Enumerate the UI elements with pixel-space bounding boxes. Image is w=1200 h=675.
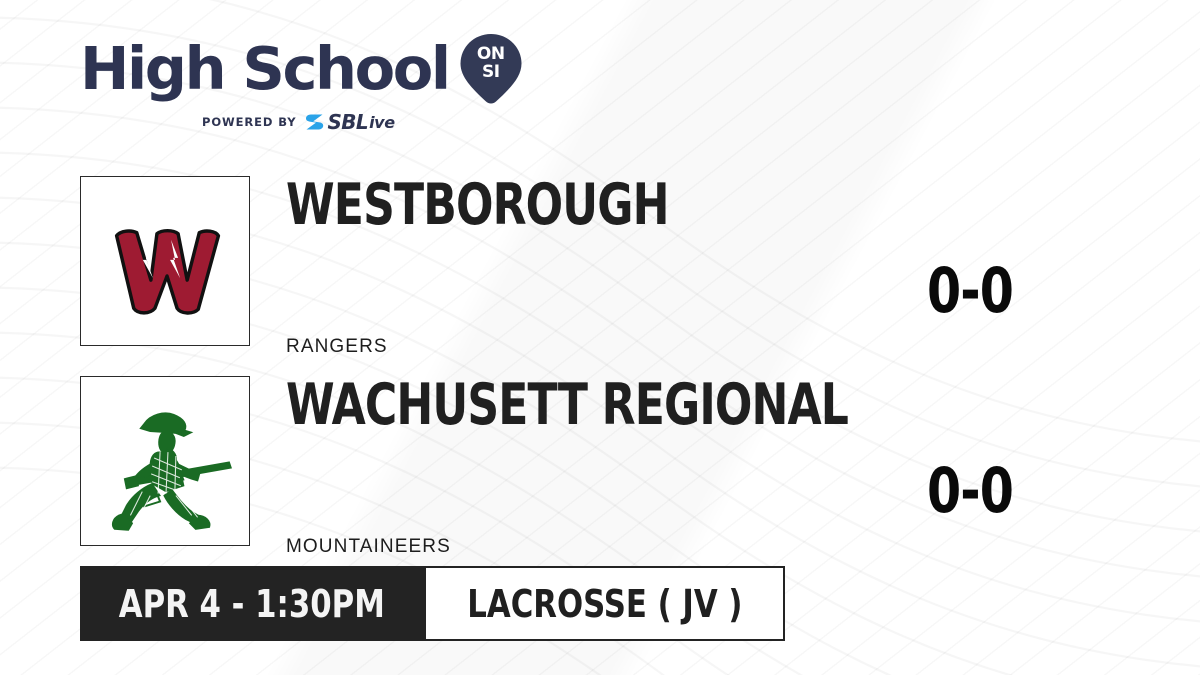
team-mascot-1: RANGERS <box>286 336 388 358</box>
sblive-bolt-icon <box>305 113 324 131</box>
on-si-pin-line2: SI <box>459 64 523 81</box>
on-si-pin-line1: ON <box>459 46 523 63</box>
brand-wordmark: High School <box>80 38 449 100</box>
game-datetime-label: APR 4 - 1:30PM <box>119 582 385 626</box>
brand-row: High School ON SI <box>80 34 510 104</box>
on-si-pin-icon: ON SI <box>459 33 523 105</box>
team-mascot-2: MOUNTAINEERS <box>286 536 451 558</box>
sblive-logo: SBL ive <box>305 110 394 134</box>
team-record-2: 0-0 <box>900 460 1041 522</box>
brand-lockup: High School ON SI POWERED BY SBL ive <box>80 34 510 134</box>
game-sport-label: LACROSSE ( JV ) <box>467 582 742 626</box>
team-logo-wachusett <box>80 376 250 546</box>
powered-by-label: POWERED BY <box>202 115 296 129</box>
sblive-wordmark-tail: ive <box>369 113 395 132</box>
game-info-bar: APR 4 - 1:30PM LACROSSE ( JV ) <box>80 566 785 641</box>
game-datetime-block: APR 4 - 1:30PM <box>80 566 424 641</box>
team-name-1: WESTBOROUGH <box>286 174 669 236</box>
team-record-1: 0-0 <box>900 260 1041 322</box>
powered-by-row: POWERED BY SBL ive <box>80 110 510 134</box>
team-name-2: WACHUSETT REGIONAL <box>286 374 848 436</box>
matchup-card: High School ON SI POWERED BY SBL ive <box>0 0 1200 675</box>
team-logo-westborough <box>80 176 250 346</box>
game-sport-block: LACROSSE ( JV ) <box>424 566 786 641</box>
sblive-wordmark-main: SBL <box>327 110 368 134</box>
